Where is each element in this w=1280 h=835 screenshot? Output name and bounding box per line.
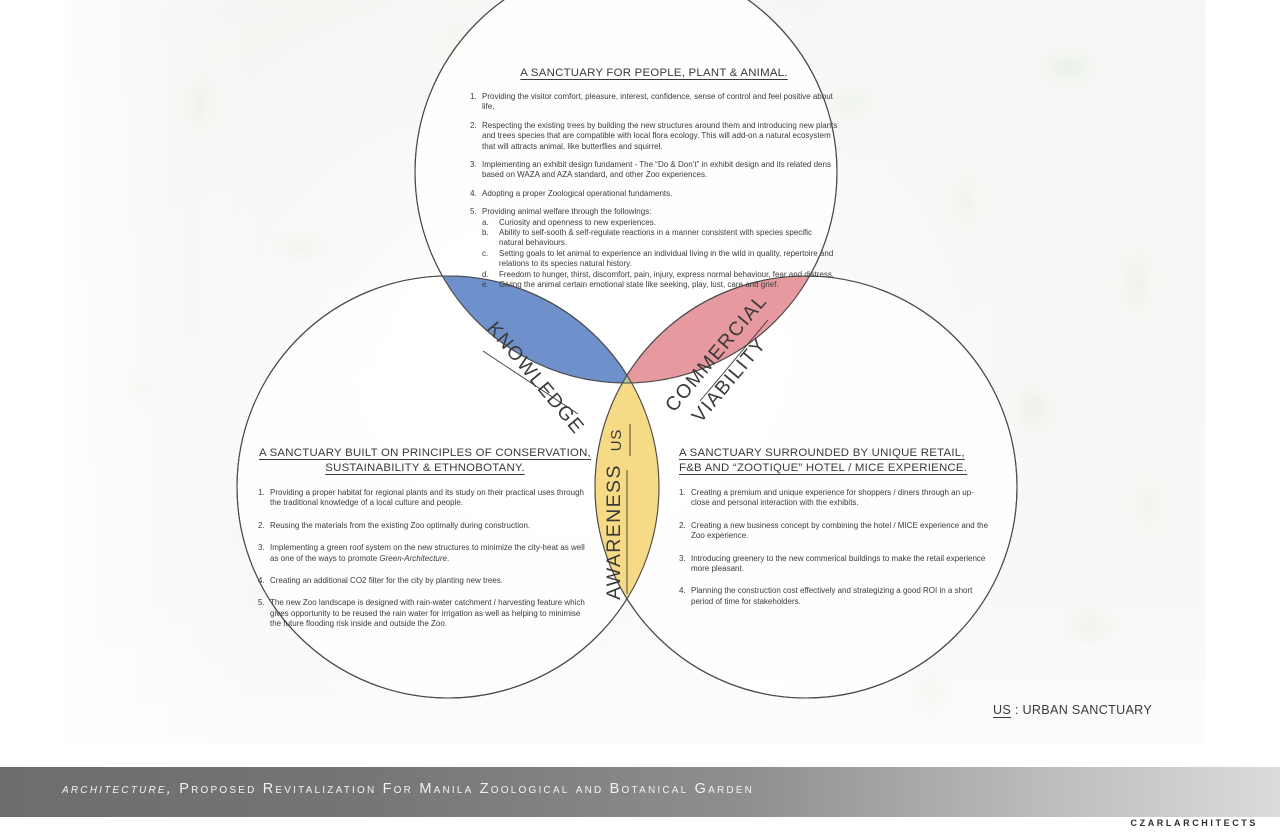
sub-item: e. Giving the animal certain emotional s… bbox=[482, 280, 838, 290]
item-number: 2. bbox=[470, 121, 482, 152]
legend: US : URBAN SANCTUARY bbox=[993, 703, 1152, 717]
list-item: 4. Planning the construction cost effect… bbox=[679, 586, 991, 607]
caption-text: architecture, Proposed Revitalization Fo… bbox=[62, 781, 754, 797]
list-item: 2. Respecting the existing trees by buil… bbox=[470, 121, 838, 152]
block-right-title: A SANCTUARY SURROUNDED BY UNIQUE RETAIL,… bbox=[679, 446, 991, 476]
legend-meaning: URBAN SANCTUARY bbox=[1023, 703, 1153, 717]
item-text: Providing animal welfare through the fol… bbox=[482, 207, 651, 216]
item-number: 4. bbox=[679, 586, 691, 607]
item-number: 4. bbox=[258, 576, 270, 586]
item-text: Creating a premium and unique experience… bbox=[691, 488, 991, 509]
item-text: Implementing an exhibit design fundament… bbox=[482, 160, 838, 181]
block-right-title-line2: F&B AND “ZOOTIQUE” HOTEL / MICE EXPERIEN… bbox=[679, 462, 967, 474]
firm-signature: CZARLARCHITECTS bbox=[1131, 818, 1259, 828]
item-text: Planning the construction cost effective… bbox=[691, 586, 991, 607]
item-text: Reusing the materials from the existing … bbox=[270, 521, 592, 531]
label-awareness: AWARENESS bbox=[603, 464, 627, 600]
sub-item-text: Freedom to hunger, thirst, discomfort, p… bbox=[499, 270, 838, 280]
list-item: 2. Reusing the materials from the existi… bbox=[258, 521, 592, 531]
list-item: 3. Implementing an exhibit design fundam… bbox=[470, 160, 838, 181]
item-number: 5. bbox=[258, 598, 270, 629]
list-item: 5. Providing animal welfare through the … bbox=[470, 207, 838, 290]
item-number: 4. bbox=[470, 189, 482, 199]
legend-separator: : bbox=[1011, 703, 1022, 717]
item-text: Providing the visitor comfort, pleasure,… bbox=[482, 92, 838, 113]
sub-item-letter: d. bbox=[482, 270, 499, 280]
sub-item-letter: a. bbox=[482, 218, 499, 228]
list-item: 3. Implementing a green roof system on t… bbox=[258, 543, 592, 564]
sub-item-letter: e. bbox=[482, 280, 499, 290]
block-top-title: A SANCTUARY FOR PEOPLE, PLANT & ANIMAL. bbox=[470, 66, 838, 81]
list-item: 1. Providing the visitor comfort, pleasu… bbox=[470, 92, 838, 113]
item-number: 5. bbox=[470, 207, 482, 290]
block-right-title-line1: A SANCTUARY SURROUNDED BY UNIQUE RETAIL, bbox=[679, 447, 965, 459]
sub-item: b. Ability to self-sooth & self-regulate… bbox=[482, 228, 838, 249]
item-number: 3. bbox=[470, 160, 482, 181]
sub-item-text: Giving the animal certain emotional stat… bbox=[499, 280, 838, 290]
item-text-after: . bbox=[447, 554, 449, 563]
sub-item: c. Setting goals to let animal to experi… bbox=[482, 249, 838, 270]
item-number: 3. bbox=[679, 554, 691, 575]
item-text-emphasis: Green-Architecture bbox=[379, 554, 447, 563]
sub-item-text: Setting goals to let animal to experienc… bbox=[499, 249, 838, 270]
item-number: 1. bbox=[470, 92, 482, 113]
sub-item-letter: b. bbox=[482, 228, 499, 249]
label-us-text: US bbox=[608, 429, 625, 451]
label-awareness-text: AWARENESS bbox=[603, 464, 625, 600]
list-item: 3. Introducing greenery to the new comme… bbox=[679, 554, 991, 575]
item-number: 2. bbox=[679, 521, 691, 542]
block-left-title-line1: A SANCTUARY BUILT ON PRINCIPLES OF CONSE… bbox=[259, 447, 591, 459]
caption-title: Proposed Revitalization For Manila Zoolo… bbox=[179, 781, 754, 797]
list-item: 4. Adopting a proper Zoological operatio… bbox=[470, 189, 838, 199]
sub-item: d. Freedom to hunger, thirst, discomfort… bbox=[482, 270, 838, 280]
caption-bar: architecture, Proposed Revitalization Fo… bbox=[0, 767, 1280, 817]
legend-key: US bbox=[993, 703, 1011, 717]
list-item: 4. Creating an additional CO2 filter for… bbox=[258, 576, 592, 586]
block-left-title: A SANCTUARY BUILT ON PRINCIPLES OF CONSE… bbox=[258, 446, 592, 476]
sub-item-letter: c. bbox=[482, 249, 499, 270]
item-text: Introducing greenery to the new commeric… bbox=[691, 554, 991, 575]
text-block-right: A SANCTUARY SURROUNDED BY UNIQUE RETAIL,… bbox=[679, 446, 991, 607]
item-text: The new Zoo landscape is designed with r… bbox=[270, 598, 592, 629]
item-number: 1. bbox=[679, 488, 691, 509]
sub-item: a. Curiosity and openness to new experie… bbox=[482, 218, 838, 228]
item-number: 2. bbox=[258, 521, 270, 531]
item-text: Creating an additional CO2 filter for th… bbox=[270, 576, 592, 586]
block-left-title-line2: SUSTAINABILITY & ETHNOBOTANY. bbox=[325, 462, 524, 474]
caption-lead: architecture, bbox=[62, 781, 173, 797]
list-item: 5. The new Zoo landscape is designed wit… bbox=[258, 598, 592, 629]
list-item: 1. Creating a premium and unique experie… bbox=[679, 488, 991, 509]
text-block-top: A SANCTUARY FOR PEOPLE, PLANT & ANIMAL. … bbox=[470, 66, 838, 291]
item-number: 3. bbox=[258, 543, 270, 564]
text-block-left: A SANCTUARY BUILT ON PRINCIPLES OF CONSE… bbox=[258, 446, 592, 630]
item-number: 1. bbox=[258, 488, 270, 509]
item-text: Providing a proper habitat for regional … bbox=[270, 488, 592, 509]
item-text: Creating a new business concept by combi… bbox=[691, 521, 991, 542]
item-text: Adopting a proper Zoological operational… bbox=[482, 189, 838, 199]
list-item: 2. Creating a new business concept by co… bbox=[679, 521, 991, 542]
item-text: Respecting the existing trees by buildin… bbox=[482, 121, 838, 152]
sub-item-text: Curiosity and openness to new experience… bbox=[499, 218, 838, 228]
list-item: 1. Providing a proper habitat for region… bbox=[258, 488, 592, 509]
sub-item-text: Ability to self-sooth & self-regulate re… bbox=[499, 228, 838, 249]
